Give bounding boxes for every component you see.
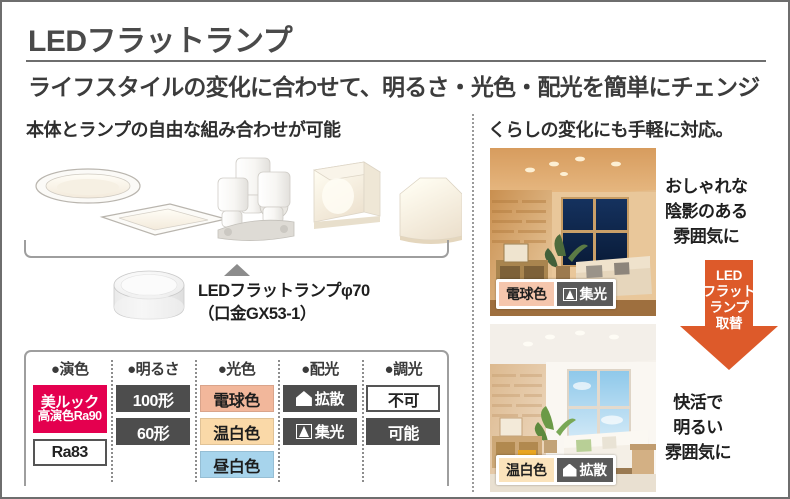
chip-diffuse[interactable]: 拡散 <box>283 385 357 412</box>
right-section-heading: くらしの変化にも手軽に対応。 <box>488 116 733 142</box>
flat-lamp-product-image <box>110 267 188 325</box>
badge-distribution: 拡散 <box>557 458 613 482</box>
spot-icon <box>563 288 577 301</box>
caption-line: 陰影のある <box>665 199 748 224</box>
chip-line1: 美ルック <box>41 395 99 411</box>
badge-light-color: 温白色 <box>499 458 554 482</box>
chip-spot[interactable]: 集光 <box>283 418 357 445</box>
right-top-caption: おしゃれな 陰影のある 雰囲気に <box>665 174 748 249</box>
arrow-line: ランプ <box>680 300 778 316</box>
photo-bright-living-room: 温白色 拡散 <box>490 324 656 492</box>
caption-line: 明るい <box>665 415 731 440</box>
spec-header: ●明るさ <box>127 358 179 379</box>
spec-header: ●調光 <box>385 358 423 379</box>
replace-arrow-label: LED フラット ランプ 取替 <box>680 268 778 332</box>
up-arrow-icon <box>224 264 250 276</box>
chip-bulb-color[interactable]: 電球色 <box>200 385 274 412</box>
arrow-line: LED <box>680 268 778 284</box>
spec-header: ●演色 <box>51 358 89 379</box>
chip-warm-white[interactable]: 温白色 <box>200 418 274 445</box>
chip-dimming-no[interactable]: 不可 <box>366 385 440 412</box>
chip-dimming-yes[interactable]: 可能 <box>366 418 440 445</box>
title-divider <box>26 60 766 62</box>
spec-column-dimming: ●調光 不可 可能 <box>362 358 445 486</box>
caption-line: 雰囲気に <box>665 440 731 465</box>
spec-column-light-color: ●光色 電球色 温白色 昼白色 <box>195 358 278 486</box>
lamp-caption: LEDフラットランプφ70 （口金GX53-1） <box>198 280 370 326</box>
diffuse-icon <box>296 391 312 406</box>
chip-100w-class[interactable]: 100形 <box>116 385 190 412</box>
lamp-caption-line2: （口金GX53-1） <box>198 303 370 326</box>
badge-light-color: 電球色 <box>499 282 554 306</box>
section-divider <box>472 114 474 492</box>
chip-line2: 高演色Ra90 <box>38 410 102 423</box>
spec-table: ●演色 美ルック 高演色Ra90 Ra83 ●明るさ 100形 60形 ●光色 … <box>24 350 449 486</box>
spec-header: ●配光 <box>301 358 339 379</box>
chip-daylight-white[interactable]: 昼白色 <box>200 451 274 478</box>
arrow-line: 取替 <box>680 316 778 332</box>
page-subtitle: ライフスタイルの変化に合わせて、明るさ・光色・配光を簡単にチェンジ <box>28 68 759 102</box>
spec-column-distribution: ●配光 拡散 集光 <box>278 358 361 486</box>
chip-label: 集光 <box>315 421 344 442</box>
infographic-page: LEDフラットランプ ライフスタイルの変化に合わせて、明るさ・光色・配光を簡単に… <box>0 0 790 499</box>
diffuse-icon <box>563 464 577 477</box>
badge-distribution: 集光 <box>557 282 613 306</box>
photo-bottom-badge: 温白色 拡散 <box>496 455 616 485</box>
lamp-caption-line1: LEDフラットランプφ70 <box>198 280 370 303</box>
badge-distribution-label: 拡散 <box>580 460 607 480</box>
caption-line: 雰囲気に <box>665 224 748 249</box>
chip-label: 拡散 <box>315 388 344 409</box>
fixture-bracket <box>24 240 449 258</box>
chip-60w-class[interactable]: 60形 <box>116 418 190 445</box>
caption-line: おしゃれな <box>665 174 748 199</box>
fixture-lineup-illustration <box>22 150 462 250</box>
left-section-heading: 本体とランプの自由な組み合わせが可能 <box>26 116 340 142</box>
chip-bi-look[interactable]: 美ルック 高演色Ra90 <box>33 385 107 433</box>
badge-distribution-label: 集光 <box>580 284 607 304</box>
spec-header: ●光色 <box>218 358 256 379</box>
page-title: LEDフラットランプ <box>28 16 292 60</box>
spot-icon <box>296 424 312 439</box>
arrow-line: フラット <box>680 284 778 300</box>
photo-top-badge: 電球色 集光 <box>496 279 616 309</box>
chip-ra83[interactable]: Ra83 <box>33 439 107 466</box>
spec-column-brightness: ●明るさ 100形 60形 <box>111 358 194 486</box>
photo-warm-living-room: 電球色 集光 <box>490 148 656 316</box>
caption-line: 快活で <box>665 390 731 415</box>
spec-column-color-rendering: ●演色 美ルック 高演色Ra90 Ra83 <box>28 358 111 486</box>
right-bottom-caption: 快活で 明るい 雰囲気に <box>665 390 731 465</box>
